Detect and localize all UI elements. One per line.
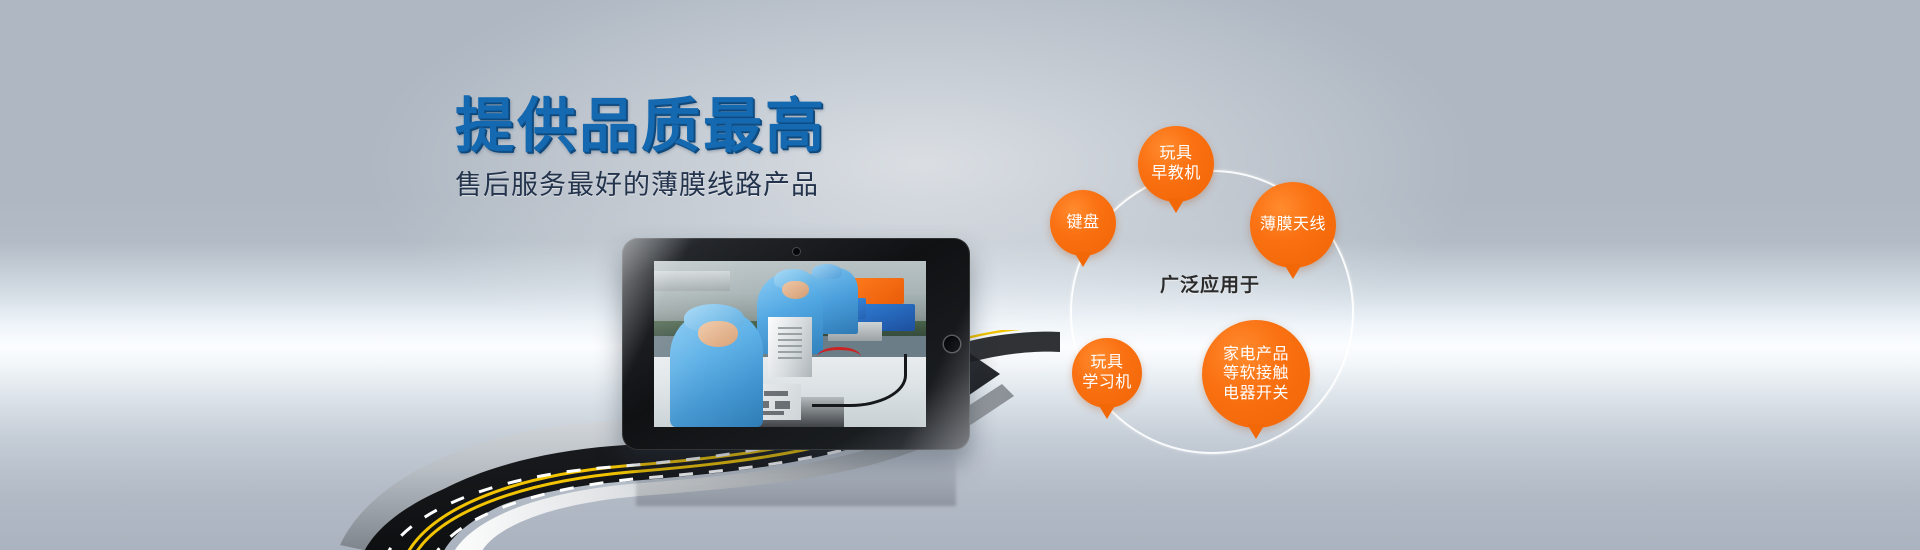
bubble-tail-icon [1284, 264, 1302, 279]
tablet-screen [654, 261, 926, 427]
bubble-label: 键盘 [1066, 213, 1099, 233]
headline-block: 提供品质最高 售后服务最好的薄膜线路产品 [455, 96, 827, 201]
page-title: 提供品质最高 [455, 96, 827, 158]
tablet-device [622, 238, 970, 450]
bubble-toy-learning-machine[interactable]: 玩具 学习机 [1072, 338, 1142, 408]
bubble-tail-icon [1247, 424, 1265, 439]
camera-icon [793, 248, 800, 255]
screen-glare [654, 261, 926, 427]
bubble-tail-icon [1074, 252, 1092, 267]
bubble-film-antenna[interactable]: 薄膜天线 [1250, 182, 1336, 268]
bubble-label: 玩具 早教机 [1151, 144, 1201, 183]
bubble-tail-icon [1098, 404, 1116, 419]
bubble-home-appliance-switch[interactable]: 家电产品 等软接触 电器开关 [1202, 320, 1310, 428]
bubble-keyboard[interactable]: 键盘 [1050, 190, 1116, 256]
promo-banner: 提供品质最高 售后服务最好的薄膜线路产品 [0, 0, 1920, 550]
diagram-center-label: 广泛应用于 [1030, 270, 1390, 297]
home-button-icon [944, 336, 960, 352]
page-subtitle: 售后服务最好的薄膜线路产品 [455, 169, 827, 201]
bubble-tail-icon [1167, 198, 1185, 213]
bubble-label: 家电产品 等软接触 电器开关 [1223, 345, 1289, 404]
bubble-toy-early-learning[interactable]: 玩具 早教机 [1138, 126, 1214, 202]
bubble-label: 玩具 学习机 [1082, 353, 1132, 392]
bubble-label: 薄膜天线 [1260, 215, 1326, 235]
tablet-reflection [636, 452, 956, 506]
application-diagram: 广泛应用于 玩具 早教机 薄膜天线 键盘 玩具 学习机 [1030, 130, 1390, 490]
